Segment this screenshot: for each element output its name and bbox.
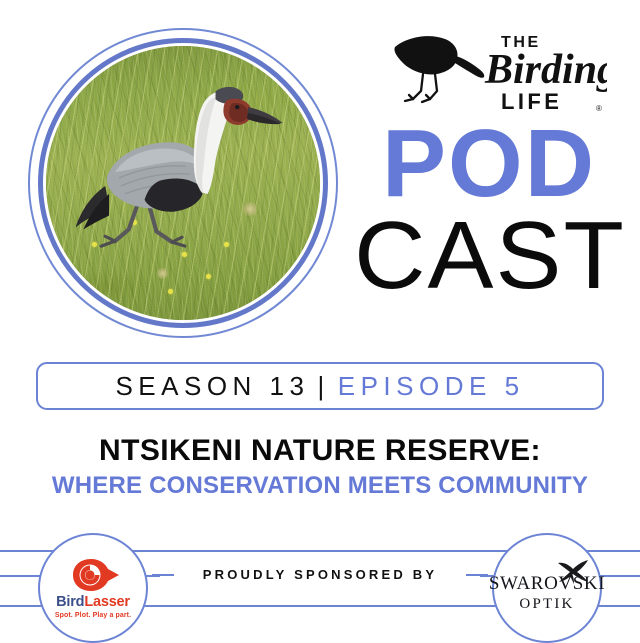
banner-separator: |	[309, 371, 337, 402]
birdlasser-pin-icon	[65, 558, 121, 592]
flying-eagle-icon	[557, 559, 591, 585]
bird-photo	[46, 46, 320, 320]
birdlasser-name-part2: Lasser	[84, 594, 130, 610]
episode-label: EPISODE 5	[338, 371, 525, 402]
episode-title: NTSIKENI NATURE RESERVE:	[0, 434, 640, 468]
caption-rule-left	[152, 574, 174, 576]
brand-script: Birding	[484, 47, 607, 93]
cast-text: CAST	[354, 208, 624, 304]
birdlasser-tagline: Spot. Plot. Play a part.	[55, 612, 131, 619]
birding-life-logo: THE Birding LIFE ®	[393, 25, 607, 117]
sponsor-badge-swarovski[interactable]: SWAROVSKI OPTIK	[492, 533, 602, 643]
caption-rule-right	[466, 574, 488, 576]
podcast-wordmark: POD CAST	[358, 120, 620, 304]
brand-registered-mark: ®	[596, 104, 602, 113]
birdlasser-name: BirdLasser	[56, 594, 130, 610]
season-label: SEASON 13	[115, 371, 309, 402]
bird-photo-frame	[28, 28, 338, 338]
wattled-crane-illustration	[46, 46, 320, 320]
swarovski-subname: OPTIK	[519, 596, 574, 613]
sponsored-by-caption: PROUDLY SPONSORED BY	[160, 563, 480, 586]
episode-subtitle: WHERE CONSERVATION MEETS COMMUNITY	[0, 472, 640, 500]
birdlasser-name-part1: Bird	[56, 594, 84, 610]
sponsor-badge-birdlasser[interactable]: BirdLasser Spot. Plot. Play a part.	[38, 533, 148, 643]
podcast-cover-art: THE Birding LIFE ® POD CAST SEASON 13 | …	[0, 0, 640, 640]
season-episode-banner: SEASON 13 | EPISODE 5	[36, 362, 604, 410]
pod-text: POD	[358, 120, 620, 208]
wading-bird-icon	[394, 36, 484, 102]
